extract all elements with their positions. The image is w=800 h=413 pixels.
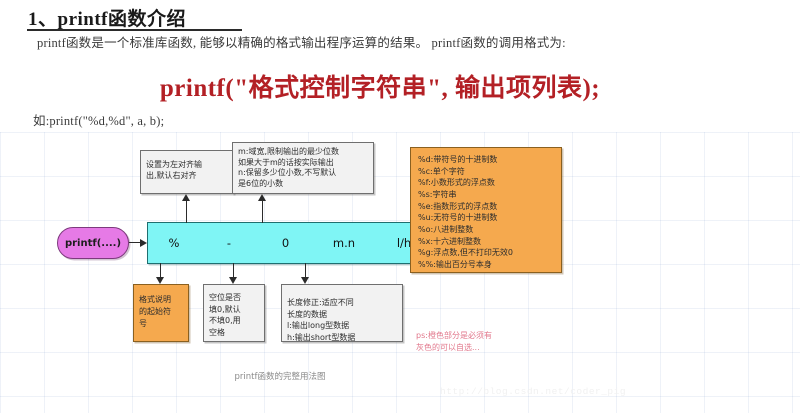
note-format-specifiers: %d:带符号的十进制数 %c:单个字符 %f:小数形式的浮点数 %s:字符串 %… [410,147,562,273]
arrow-width-prec-icon [258,194,266,201]
connector-bar-to-left-align [186,201,187,223]
arrow-start-symbol-icon [156,277,164,284]
fmt-cell-mn: m.n [313,236,375,250]
diagram-caption: printf函数的完整用法图 [0,370,560,382]
note-width-precision: m:域宽,限制输出的最少位数 如果大于m的话按实际输出 n:保留多少位小数,不写… [232,142,374,194]
note-zero-padding: 空位是否 填0,默认 不填0,用 空格 [203,284,265,342]
page-root: 1、printf函数介绍 printf函数是一个标准库函数, 能够以精确的格式输… [0,0,800,413]
printf-usage-diagram: printf(....) % - 0 m.n l/h 格式字符 设置为左对齐输 … [0,132,800,413]
source-watermark: http://blog.csdn.net/coder_pig [440,386,626,397]
printf-syntax-formula: printf("格式控制字符串", 输出项列表); [0,68,760,104]
connector-bar-to-length-mod [305,263,306,277]
arrow-length-mod-icon [301,277,309,284]
intro-paragraph: printf函数是一个标准库函数, 能够以精确的格式输出程序运算的结果。 pri… [37,32,566,51]
arrow-entry-to-bar-icon [140,239,147,247]
note-left-align: 设置为左对齐输 出,默认右对齐 [140,150,234,194]
connector-bar-to-start-symbol [160,263,161,277]
arrow-zero-pad-icon [229,277,237,284]
note-length-modifier: 长度修正:适应不同 长度的数据 l:输出long型数据 h:输出short型数据 [281,284,403,342]
fmt-cell-zero: 0 [258,236,313,250]
page-title: 1、printf函数介绍 [28,4,186,31]
fmt-cell-minus: - [200,236,258,250]
fmt-cell-percent: % [148,236,200,250]
printf-entry-node: printf(....) [57,227,129,259]
legend-ps-note: ps:橙色部分是必须有 灰色的可以自选... [416,330,492,354]
arrow-left-align-icon [182,194,190,201]
note-start-symbol: 格式说明 的起始符 号 [133,284,189,342]
title-underline [27,29,242,31]
connector-bar-to-zero-pad [233,263,234,277]
printf-example-line: 如:printf("%d,%d", a, b); [33,110,164,129]
connector-bar-to-width-prec [262,201,263,223]
